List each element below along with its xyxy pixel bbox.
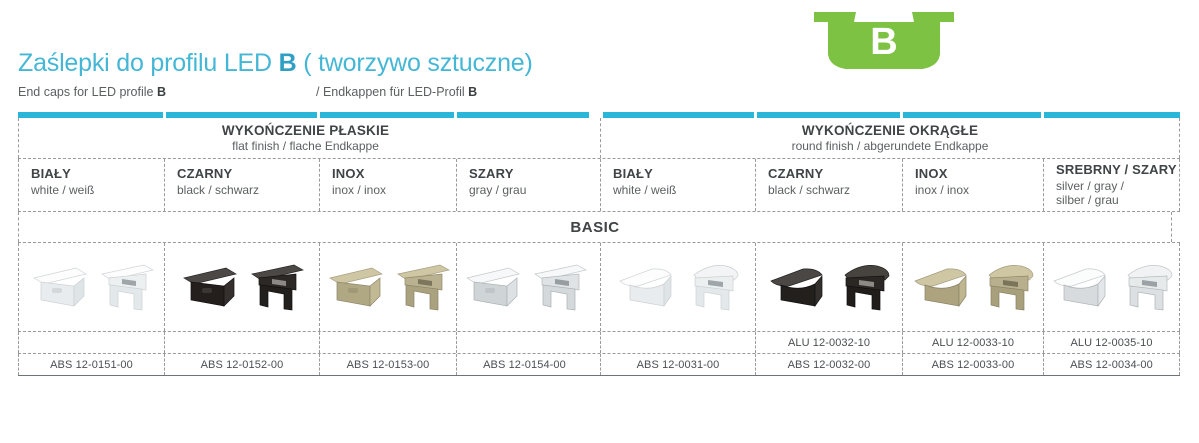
end-cap-round-open-icon [680,261,742,313]
abs-code: ABS 12-0032-00 [756,354,902,375]
color-header-gray-flat: SZARY gray / grau [456,159,592,211]
page-title-profile-letter: B [279,49,297,77]
page-header: Zaślepki do profilu LED B ( tworzywo szt… [18,48,778,101]
finish-group-flat: WYKOŃCZENIE PŁASKIE flat finish / flache… [18,118,592,158]
end-cap-round-open-icon [831,261,893,313]
alu-code-cell: ALU 12-0032-10 [755,332,902,353]
page-subtitle-de-text: / Endkappen für LED-Profil [316,85,468,99]
product-cell-inox-flat[interactable] [319,243,456,331]
color-header-black-flat: CZARNY black / schwarz [164,159,319,211]
end-cap-flat-closed-icon [324,262,386,312]
color-name-pl: SREBRNY / SZARY [1056,162,1179,177]
alu-code-cell [319,332,456,353]
alu-code-cell [600,332,755,353]
end-cap-flat-closed-icon [28,262,90,312]
alu-code-cell: ALU 12-0035-10 [1043,332,1180,353]
end-cap-flat-open-icon [390,261,452,313]
color-header-black-round: CZARNY black / schwarz [755,159,902,211]
group-separator [592,159,600,211]
abs-code: ABS 12-0034-00 [1044,354,1179,375]
group-separator [592,118,600,158]
color-name-pl: SZARY [469,166,592,181]
color-name-pl: CZARNY [768,166,902,181]
page-title: Zaślepki do profilu LED B ( tworzywo szt… [18,48,778,78]
abs-code: ABS 12-0033-00 [903,354,1043,375]
end-caps-table: WYKOŃCZENIE PŁASKIE flat finish / flache… [18,112,1180,376]
group-separator [592,332,600,353]
color-name-pl: BIAŁY [31,166,164,181]
page-title-material: ( tworzywo sztuczne) [296,49,532,77]
alu-code [19,332,164,353]
product-cell-black-flat[interactable] [164,243,319,331]
logo-letter: B [810,8,958,70]
alu-code-cell [18,332,164,353]
color-name-en: gray / grau [469,183,592,197]
abs-code: ABS 12-0154-00 [457,354,592,375]
abs-code-cell: ABS 12-0154-00 [456,354,592,375]
page-subtitle: End caps for LED profile B / Endkappen f… [18,85,778,101]
alu-code-cell: ALU 12-0033-10 [902,332,1043,353]
product-cell-white-round[interactable] [600,243,755,331]
color-name-en: black / schwarz [177,183,319,197]
color-name-en: inox / inox [915,183,1043,197]
table-bottom-border [18,375,1180,376]
color-name-en: black / schwarz [768,183,902,197]
color-name-pl: CZARNY [177,166,319,181]
end-cap-flat-open-icon [527,261,589,313]
finish-group-row: WYKOŃCZENIE PŁASKIE flat finish / flache… [18,118,1180,158]
page-subtitle-de: / Endkappen für LED-Profil B [316,85,477,99]
alu-code [320,332,456,353]
end-cap-round-open-icon [975,261,1037,313]
abs-code: ABS 12-0152-00 [165,354,319,375]
end-cap-round-closed-icon [909,262,971,312]
alu-code-cell [164,332,319,353]
alu-code [457,332,592,353]
page-subtitle-en-letter: B [157,85,166,99]
end-cap-round-closed-icon [1048,262,1110,312]
abs-code-cell: ABS 12-0153-00 [319,354,456,375]
end-cap-round-closed-icon [765,262,827,312]
page-subtitle-en-text: End caps for LED profile [18,85,157,99]
abs-code: ABS 12-0031-00 [601,354,755,375]
series-cell: BASIC [18,212,1172,242]
end-cap-flat-open-icon [244,261,306,313]
abs-code-cell: ABS 12-0034-00 [1043,354,1180,375]
color-header-inox-round: INOX inox / inox [902,159,1043,211]
abs-code-cell: ABS 12-0152-00 [164,354,319,375]
color-name-en: white / weiß [613,183,755,197]
color-name-en: silver / gray / silber / grau [1056,179,1179,207]
alu-code: ALU 12-0032-10 [756,332,902,353]
alu-code: ALU 12-0033-10 [903,332,1043,353]
page-subtitle-en: End caps for LED profile B [18,85,166,99]
group-separator [592,354,600,375]
page-subtitle-de-letter: B [468,85,477,99]
alu-code: ALU 12-0035-10 [1044,332,1179,353]
end-cap-flat-open-icon [94,261,156,313]
page-title-main: Zaślepki do profilu LED [18,49,279,77]
alu-code [165,332,319,353]
finish-group-round-title: WYKOŃCZENIE OKRĄGŁE [802,123,978,138]
product-image-row [18,243,1180,331]
abs-code: ABS 12-0153-00 [320,354,456,375]
abs-code-row: ABS 12-0151-00 ABS 12-0152-00 ABS 12-015… [18,354,1180,375]
abs-code-cell: ABS 12-0151-00 [18,354,164,375]
color-name-en: inox / inox [332,183,456,197]
color-name-pl: INOX [915,166,1043,181]
group-separator [592,243,600,331]
color-name-pl: BIAŁY [613,166,755,181]
finish-group-round-subtitle: round finish / abgerundete Endkappe [792,139,989,153]
end-cap-flat-closed-icon [178,262,240,312]
color-name-pl: INOX [332,166,456,181]
end-cap-round-closed-icon [614,262,676,312]
color-header-inox-flat: INOX inox / inox [319,159,456,211]
finish-group-flat-title: WYKOŃCZENIE PŁASKIE [222,123,389,138]
product-cell-silver-round[interactable] [1043,243,1180,331]
color-header-white-round: BIAŁY white / weiß [600,159,755,211]
abs-code-cell: ABS 12-0033-00 [902,354,1043,375]
end-cap-round-open-icon [1114,261,1176,313]
product-cell-white-flat[interactable] [18,243,164,331]
alu-code-cell [456,332,592,353]
color-header-row: BIAŁY white / weiß CZARNY black / schwar… [18,159,1180,211]
finish-group-round: WYKOŃCZENIE OKRĄGŁE round finish / abger… [600,118,1180,158]
color-header-silver-round: SREBRNY / SZARY silver / gray / silber /… [1043,159,1180,211]
color-header-white-flat: BIAŁY white / weiß [18,159,164,211]
color-name-en: white / weiß [31,183,164,197]
series-row: BASIC [18,212,1180,242]
catalog-page: Zaślepki do profilu LED B ( tworzywo szt… [0,0,1199,443]
series-label: BASIC [19,212,1171,242]
end-cap-flat-closed-icon [461,262,523,312]
product-cell-inox-round[interactable] [902,243,1043,331]
abs-code: ABS 12-0151-00 [19,354,164,375]
abs-code-cell: ABS 12-0031-00 [600,354,755,375]
finish-group-flat-subtitle: flat finish / flache Endkappe [232,139,379,153]
product-cell-black-round[interactable] [755,243,902,331]
profile-b-logo: B [810,8,958,70]
abs-code-cell: ABS 12-0032-00 [755,354,902,375]
alu-code-row: ALU 12-0032-10 ALU 12-0033-10 ALU 12-003… [18,332,1180,353]
alu-code [601,332,755,353]
product-cell-gray-flat[interactable] [456,243,592,331]
